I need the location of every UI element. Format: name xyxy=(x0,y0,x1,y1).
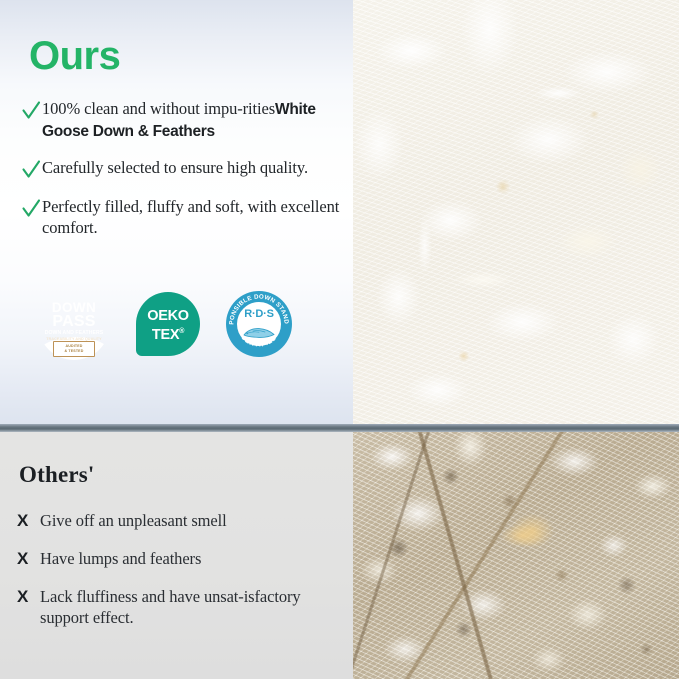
ours-content: Ours 100% clean and without impu-ritiesW… xyxy=(0,0,353,424)
list-item-label: Give off an unpleasant smell xyxy=(40,510,227,531)
x-icon: X xyxy=(17,510,40,531)
list-item-label: Perfectly filled, fluffy and soft, with … xyxy=(42,196,353,238)
oeko-tex-line1: OEKO xyxy=(136,308,200,324)
dirty-down-photo-panel xyxy=(353,432,679,679)
downpass-line2: PASS xyxy=(38,314,110,330)
check-icon xyxy=(21,158,41,182)
downpass-badge: DOWN PASS DOWN AND FEATHERS TRACEABILITY… xyxy=(38,288,110,360)
list-item-label: 100% clean and without impu-ritiesWhite … xyxy=(42,98,353,142)
ours-panel: Ours 100% clean and without impu-ritiesW… xyxy=(0,0,679,424)
rds-center-label: R·D·S xyxy=(226,308,292,320)
downpass-ribbon: AUDITED & TESTED xyxy=(53,341,95,357)
clean-down-photo xyxy=(353,0,679,424)
list-item-label: Have lumps and feathers xyxy=(40,548,201,569)
registered-mark-icon: ® xyxy=(179,328,184,335)
bullet-plain-text: 100% clean and without impu-rities xyxy=(42,99,275,118)
section-divider xyxy=(0,424,679,432)
list-item: Carefully selected to ensure high qualit… xyxy=(21,157,353,181)
oeko-tex-line2-text: TEX xyxy=(152,327,179,343)
list-item-label: Carefully selected to ensure high qualit… xyxy=(42,157,308,178)
others-bullet-list: X Give off an unpleasant smell X Have lu… xyxy=(17,510,353,645)
x-icon: X xyxy=(17,586,40,607)
downpass-subtitle-1: DOWN AND FEATHERS xyxy=(38,331,110,336)
certification-badges: DOWN PASS DOWN AND FEATHERS TRACEABILITY… xyxy=(38,288,292,360)
oeko-tex-line2: TEX® xyxy=(136,324,200,343)
list-item: X Lack fluffiness and have unsat-isfacto… xyxy=(17,586,353,628)
oeko-tex-badge: OEKO TEX® xyxy=(136,292,200,356)
list-item-label: Lack fluffiness and have unsat-isfactory… xyxy=(40,586,353,628)
rds-badge: RESPONSIBLE DOWN STANDARD CERTIFIED R·D·… xyxy=(226,291,292,357)
ours-bullet-list: 100% clean and without impu-ritiesWhite … xyxy=(21,98,353,253)
oeko-tex-label: OEKO TEX® xyxy=(136,308,200,343)
list-item: Perfectly filled, fluffy and soft, with … xyxy=(21,196,353,238)
check-icon xyxy=(21,99,41,123)
dirty-down-photo xyxy=(353,432,679,679)
others-panel: Others' X Give off an unpleasant smell X… xyxy=(0,432,679,679)
others-content: Others' X Give off an unpleasant smell X… xyxy=(0,432,353,679)
x-icon: X xyxy=(17,548,40,569)
clean-down-photo-panel xyxy=(353,0,679,424)
goose-icon xyxy=(243,324,275,339)
comparison-infographic: Ours 100% clean and without impu-ritiesW… xyxy=(0,0,679,679)
downpass-ribbon-line2: & TESTED xyxy=(54,349,94,354)
list-item: X Give off an unpleasant smell xyxy=(17,510,353,531)
page-title-ours: Ours xyxy=(29,36,120,76)
list-item: 100% clean and without impu-ritiesWhite … xyxy=(21,98,353,142)
list-item: X Have lumps and feathers xyxy=(17,548,353,569)
check-icon xyxy=(21,197,41,221)
page-title-others: Others' xyxy=(19,463,95,486)
